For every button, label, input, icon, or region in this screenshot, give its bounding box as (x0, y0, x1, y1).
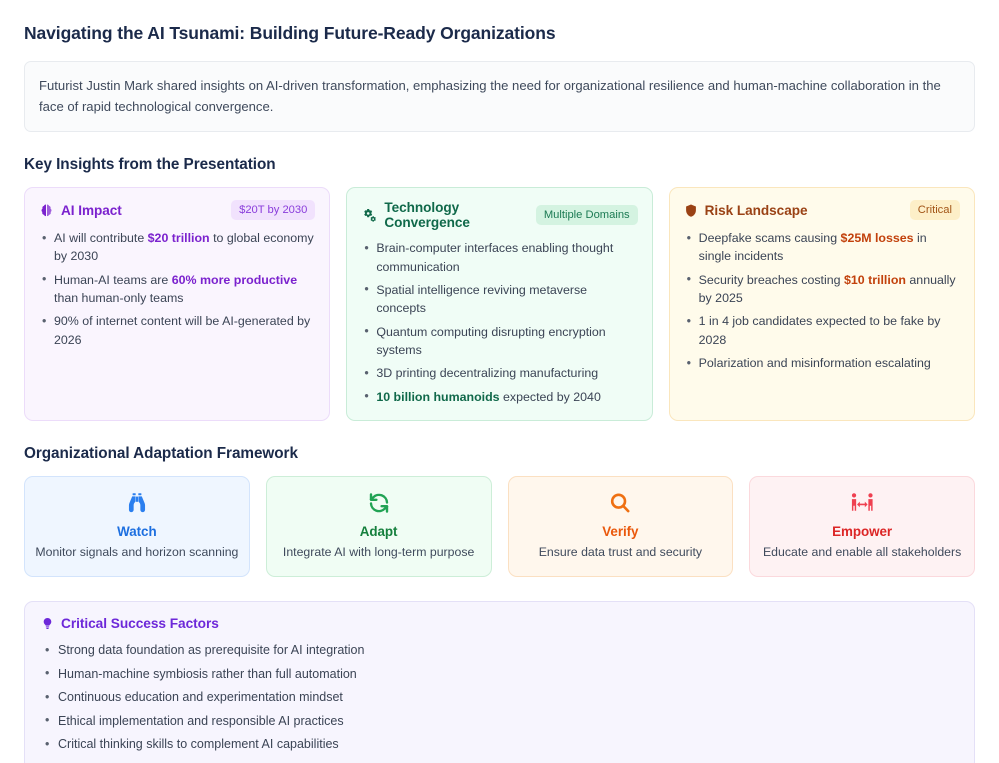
status-badge: Critical (910, 200, 960, 220)
framework-card-desc: Monitor signals and horizon scanning (35, 544, 239, 561)
list-item: Brain-computer interfaces enabling thoug… (361, 239, 637, 276)
card-title-wrap: AI Impact (39, 203, 122, 218)
framework-card-adapt[interactable]: Adapt Integrate AI with long-term purpos… (266, 476, 492, 577)
summary-box: Futurist Justin Mark shared insights on … (24, 61, 975, 132)
refresh-icon (277, 491, 481, 515)
list-item: Continuous education and experimentation… (41, 688, 958, 707)
card-title: Risk Landscape (705, 203, 808, 218)
gears-icon (361, 208, 377, 223)
list-item: Human-machine symbiosis rather than full… (41, 665, 958, 684)
summary-text: Futurist Justin Mark shared insights on … (39, 75, 960, 117)
card-title-wrap: Technology Convergence (361, 200, 528, 230)
csf-header: Critical Success Factors (41, 616, 958, 631)
list-item: Spatial intelligence reviving metaverse … (361, 281, 637, 318)
insights-section-heading: Key Insights from the Presentation (24, 156, 975, 174)
document-page: Navigating the AI Tsunami: Building Futu… (0, 0, 999, 763)
list-item: 90% of internet content will be AI-gener… (39, 312, 315, 349)
framework-card-title: Adapt (277, 524, 481, 539)
card-title-wrap: Risk Landscape (684, 203, 808, 218)
list-item: Polarization and misinformation escalati… (684, 354, 960, 372)
framework-card-watch[interactable]: Watch Monitor signals and horizon scanni… (24, 476, 250, 577)
insight-card-ai-impact[interactable]: AI Impact $20T by 2030 AI will contribut… (24, 187, 330, 421)
highlight-value: $10 trillion (844, 273, 906, 287)
list-item: Ethical implementation and responsible A… (41, 712, 958, 731)
list-item: Strong data foundation as prerequisite f… (41, 641, 958, 660)
card-header: AI Impact $20T by 2030 (39, 200, 315, 220)
highlight-value: 10 billion humanoids (376, 390, 499, 404)
search-icon (519, 491, 723, 515)
card-title: AI Impact (61, 203, 122, 218)
list-item: 10 billion humanoids expected by 2040 (361, 388, 637, 406)
card-bullet-list: Deepfake scams causing $25M losses in si… (684, 229, 960, 373)
card-header: Risk Landscape Critical (684, 200, 960, 220)
list-item: Human-AI teams are 60% more productive t… (39, 271, 315, 308)
list-item: 3D printing decentralizing manufacturing (361, 364, 637, 382)
shield-icon (684, 203, 698, 218)
binoculars-icon (35, 491, 239, 515)
framework-section-heading: Organizational Adaptation Framework (24, 445, 975, 463)
list-item: 1 in 4 job candidates expected to be fak… (684, 312, 960, 349)
list-item: Security breaches costing $10 trillion a… (684, 271, 960, 308)
highlight-value: 60% more productive (172, 273, 297, 287)
framework-card-desc: Integrate AI with long-term purpose (277, 544, 481, 561)
insight-card-technology-convergence[interactable]: Technology Convergence Multiple Domains … (346, 187, 652, 421)
list-item: Critical thinking skills to complement A… (41, 735, 958, 754)
framework-card-desc: Educate and enable all stakeholders (760, 544, 964, 561)
list-item: AI will contribute $20 trillion to globa… (39, 229, 315, 266)
page-title: Navigating the AI Tsunami: Building Futu… (24, 22, 975, 45)
framework-row: Watch Monitor signals and horizon scanni… (24, 476, 975, 577)
csf-list: Strong data foundation as prerequisite f… (41, 641, 958, 754)
card-header: Technology Convergence Multiple Domains (361, 200, 637, 230)
framework-card-title: Empower (760, 524, 964, 539)
brain-icon (39, 203, 54, 218)
csf-title: Critical Success Factors (61, 616, 219, 631)
lightbulb-icon (41, 616, 54, 631)
framework-card-title: Watch (35, 524, 239, 539)
people-arrows-icon (760, 491, 964, 515)
highlight-value: $25M losses (841, 231, 914, 245)
card-title: Technology Convergence (384, 200, 528, 230)
insight-card-risk-landscape[interactable]: Risk Landscape Critical Deepfake scams c… (669, 187, 975, 421)
status-badge: Multiple Domains (536, 205, 638, 225)
framework-card-desc: Ensure data trust and security (519, 544, 723, 561)
framework-card-verify[interactable]: Verify Ensure data trust and security (508, 476, 734, 577)
card-bullet-list: AI will contribute $20 trillion to globa… (39, 229, 315, 349)
list-item: Quantum computing disrupting encryption … (361, 323, 637, 360)
status-badge: $20T by 2030 (231, 200, 315, 220)
critical-success-factors-panel: Critical Success Factors Strong data fou… (24, 601, 975, 763)
framework-card-empower[interactable]: Empower Educate and enable all stakehold… (749, 476, 975, 577)
card-bullet-list: Brain-computer interfaces enabling thoug… (361, 239, 637, 406)
list-item: Deepfake scams causing $25M losses in si… (684, 229, 960, 266)
highlight-value: $20 trillion (148, 231, 210, 245)
insights-row: AI Impact $20T by 2030 AI will contribut… (24, 187, 975, 421)
framework-card-title: Verify (519, 524, 723, 539)
